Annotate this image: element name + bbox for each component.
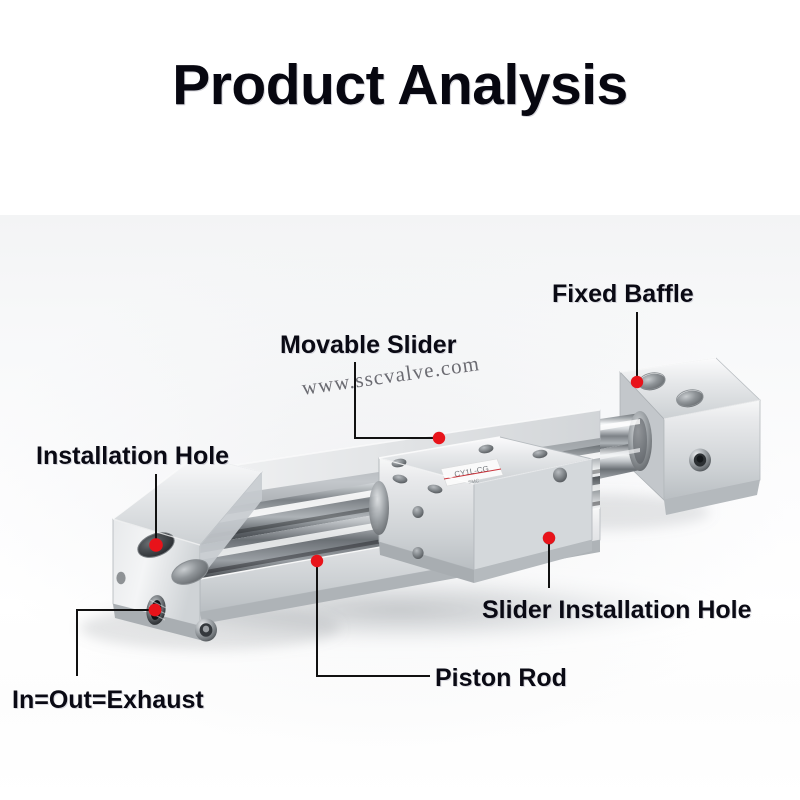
page-title: Product Analysis [0, 52, 800, 118]
callout-label-in-out-exhaust: In=Out=Exhaust [12, 686, 204, 715]
product-analysis-figure: CY1L-CG SMC [0, 0, 800, 800]
product-illustration: CY1L-CG SMC [0, 0, 800, 800]
piston-rod-left-visible [369, 481, 389, 535]
callout-label-installation-hole: Installation Hole [36, 442, 229, 471]
callout-label-piston-rod: Piston Rod [435, 664, 567, 693]
callout-label-fixed-baffle: Fixed Baffle [552, 280, 694, 309]
movable-slider-block: CY1L-CG SMC [379, 437, 592, 583]
callout-label-movable-slider: Movable Slider [280, 331, 456, 360]
callout-label-slider-installation-hole: Slider Installation Hole [482, 596, 752, 625]
